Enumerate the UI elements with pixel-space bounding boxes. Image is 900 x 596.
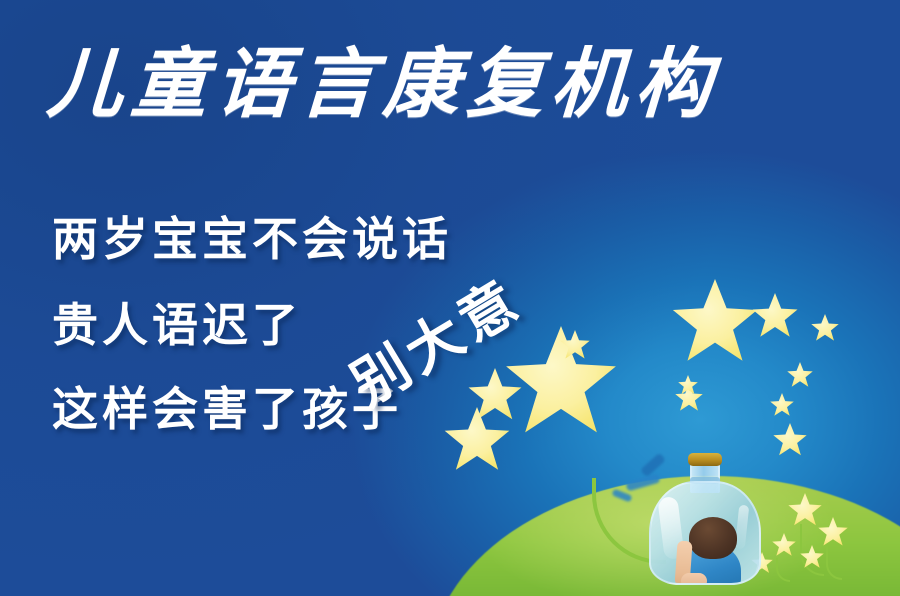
promo-banner: 儿童语言康复机构 两岁宝宝不会说话 贵人语迟了 这样会害了孩子 别大意 (0, 0, 900, 596)
tagline-line-1: 两岁宝宝不会说话 (52, 216, 572, 262)
tagline-line-3: 这样会害了孩子 (52, 386, 572, 432)
glass-bottle (649, 455, 761, 585)
page-title: 儿童语言康复机构 (45, 47, 721, 123)
bottle-highlight-right (735, 505, 750, 550)
cork-stopper (688, 453, 722, 466)
child-head (689, 517, 737, 559)
child-leg (681, 573, 707, 585)
bottle-body (649, 481, 761, 585)
